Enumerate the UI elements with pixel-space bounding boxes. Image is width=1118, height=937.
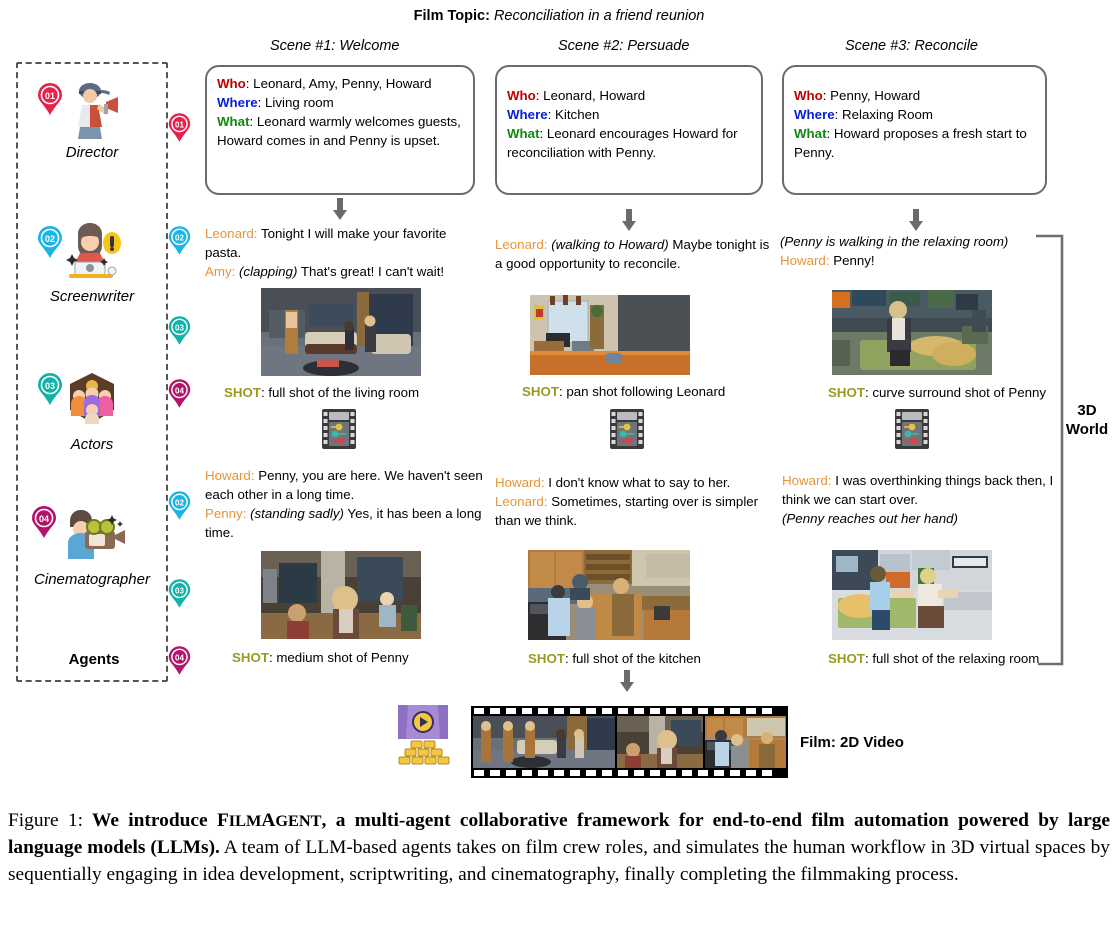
- shot-key: SHOT: [528, 651, 565, 666]
- row-pin-02a: 02: [167, 225, 192, 261]
- stage-direction: (Penny is walking in the relaxing room): [780, 234, 1008, 249]
- dialogue-block-2a: Leonard: (walking to Howard) Maybe tonig…: [495, 235, 773, 273]
- film-topic-label: Film Topic:: [414, 8, 490, 24]
- who-label: Who: [794, 88, 823, 103]
- svg-text:02: 02: [175, 499, 184, 508]
- shot-value: : full shot of the kitchen: [565, 651, 701, 666]
- shot-key: SHOT: [232, 650, 269, 665]
- scene-still-1b: [261, 551, 421, 639]
- row-pin-02b: 02: [167, 490, 192, 526]
- shot-value: : curve surround shot of Penny: [865, 385, 1046, 400]
- who-value: : Leonard, Howard: [536, 88, 645, 103]
- shot-label-2b: SHOT: full shot of the kitchen: [528, 651, 701, 666]
- speaker: Howard:: [782, 473, 832, 488]
- flow-arrow-down-final: [618, 670, 636, 697]
- shot-value: : medium shot of Penny: [269, 650, 409, 665]
- where-value: : Relaxing Room: [835, 107, 933, 122]
- speaker: Leonard:: [495, 494, 548, 509]
- what-value: : Leonard warmly welcomes guests, Howard…: [217, 114, 461, 148]
- brand-name: FILMAGENT: [217, 810, 322, 831]
- speaker: Penny:: [205, 506, 246, 521]
- figure-number: Figure 1:: [8, 810, 83, 831]
- dialogue-block-3b: Howard: I was overthinking things back t…: [782, 471, 1060, 528]
- row-pin-01: 01: [167, 112, 192, 148]
- stage-direction: (standing sadly): [246, 506, 344, 521]
- shot-label-3b: SHOT: full shot of the relaxing room: [828, 651, 1039, 666]
- svg-text:03: 03: [45, 381, 55, 391]
- speaker: Leonard:: [495, 237, 548, 252]
- where-value: : Living room: [258, 95, 334, 110]
- speaker: Howard:: [205, 468, 255, 483]
- row-pin-04b: 04: [167, 645, 192, 681]
- svg-text:04: 04: [175, 387, 184, 396]
- shot-value: : full shot of the relaxing room: [865, 651, 1039, 666]
- world-line-2: World: [1066, 421, 1108, 438]
- shot-label-3a: SHOT: curve surround shot of Penny: [828, 385, 1046, 400]
- shot-label-1a: SHOT: full shot of the living room: [224, 385, 419, 400]
- sidebar-item-label: Actors: [16, 436, 168, 453]
- clapper-icon-1a: [322, 409, 356, 454]
- dialogue-block-1b: Howard: Penny, you are here. We haven't …: [205, 466, 483, 543]
- stage-direction: (Penny reaches out her hand): [782, 511, 958, 526]
- svg-text:01: 01: [45, 91, 55, 101]
- shot-key: SHOT: [828, 385, 865, 400]
- pin-04-cinematographer: 04: [30, 505, 58, 544]
- line-text: I don't know what to say to her.: [545, 475, 731, 490]
- shot-key: SHOT: [828, 651, 865, 666]
- scene-still-2a: [530, 295, 690, 375]
- dialogue-block-3a: (Penny is walking in the relaxing room) …: [780, 232, 1060, 270]
- row-pin-03b: 03: [167, 578, 192, 614]
- clapper-icon-3a: [895, 409, 929, 454]
- world-line-1: 3D: [1077, 402, 1096, 419]
- pin-01-director: 01: [36, 82, 64, 121]
- who-label: Who: [217, 76, 246, 91]
- flow-arrow-down-2a: [620, 209, 638, 236]
- what-label: What: [794, 126, 827, 141]
- sidebar-item-label: Cinematographer: [8, 571, 176, 588]
- who-label: Who: [507, 88, 536, 103]
- speaker: Howard:: [495, 475, 545, 490]
- world-label: 3D World: [1058, 402, 1116, 440]
- world-bracket: [1036, 234, 1070, 671]
- sidebar-item-label: Screenwriter: [16, 288, 168, 305]
- agents-panel-title: Agents: [18, 651, 170, 668]
- scene-title-3: Scene #3: Reconcile: [845, 38, 978, 54]
- scene-still-3b: [832, 550, 992, 640]
- what-label: What: [507, 126, 540, 141]
- scene-card-1: Who: Leonard, Amy, Penny, Howard Where: …: [205, 65, 475, 195]
- line-text: Penny!: [830, 253, 875, 268]
- scene-title-1: Scene #1: Welcome: [270, 38, 400, 54]
- sidebar-item-label: Director: [16, 144, 168, 161]
- film-topic: Film Topic: Reconciliation in a friend r…: [0, 8, 1118, 24]
- what-label: What: [217, 114, 250, 129]
- scene-card-2: Who: Leonard, Howard Where: Kitchen What…: [495, 65, 763, 195]
- line-text: That's great! I can't wait!: [297, 264, 444, 279]
- shot-key: SHOT: [224, 385, 261, 400]
- svg-text:02: 02: [45, 234, 55, 244]
- stage-direction: (walking to Howard): [548, 237, 669, 252]
- pin-02-screenwriter: 02: [36, 225, 64, 264]
- where-label: Where: [217, 95, 258, 110]
- scene-card-3: Who: Penny, Howard Where: Relaxing Room …: [782, 65, 1047, 195]
- clapper-icon-2a: [610, 409, 644, 454]
- where-label: Where: [794, 107, 835, 122]
- who-value: : Leonard, Amy, Penny, Howard: [246, 76, 432, 91]
- row-pin-04a: 04: [167, 378, 192, 414]
- figure-caption: Figure 1: We introduce FILMAGENT, a mult…: [8, 808, 1110, 888]
- shot-label-2a: SHOT: pan shot following Leonard: [522, 384, 725, 399]
- where-value: : Kitchen: [548, 107, 600, 122]
- shot-label-1b: SHOT: medium shot of Penny: [232, 650, 409, 665]
- scene-still-2b: [528, 550, 690, 640]
- where-label: Where: [507, 107, 548, 122]
- dialogue-block-1a: Leonard: Tonight I will make your favori…: [205, 224, 477, 281]
- svg-text:01: 01: [175, 121, 184, 130]
- speaker: Howard:: [780, 253, 830, 268]
- svg-text:02: 02: [175, 234, 184, 243]
- stage-direction: (clapping): [235, 264, 297, 279]
- svg-text:04: 04: [39, 514, 49, 524]
- cinema-screen-icon: [395, 705, 451, 772]
- scene-still-1a: [261, 288, 421, 376]
- svg-text:04: 04: [175, 654, 184, 663]
- what-value: : Howard proposes a fresh start to Penny…: [794, 126, 1027, 160]
- row-pin-03a: 03: [167, 315, 192, 351]
- pin-03-actors: 03: [36, 372, 64, 411]
- speaker: Leonard:: [205, 226, 258, 241]
- shot-key: SHOT: [522, 384, 559, 399]
- shot-value: : full shot of the living room: [261, 385, 419, 400]
- flow-arrow-down-1a: [331, 198, 349, 225]
- svg-text:03: 03: [175, 587, 184, 596]
- shot-value: : pan shot following Leonard: [559, 384, 725, 399]
- what-value: : Leonard encourages Howard for reconcil…: [507, 126, 738, 160]
- film-strip: [471, 706, 788, 778]
- scene-still-3a: [832, 290, 992, 375]
- caption-bold-1: We introduce: [83, 810, 217, 831]
- svg-text:03: 03: [175, 324, 184, 333]
- dialogue-block-2b: Howard: I don't know what to say to her.…: [495, 473, 775, 530]
- who-value: : Penny, Howard: [823, 88, 920, 103]
- speaker: Amy:: [205, 264, 235, 279]
- film-topic-value: Reconciliation in a friend reunion: [494, 8, 704, 24]
- scene-title-2: Scene #2: Persuade: [558, 38, 689, 54]
- film-output-label: Film: 2D Video: [800, 734, 904, 751]
